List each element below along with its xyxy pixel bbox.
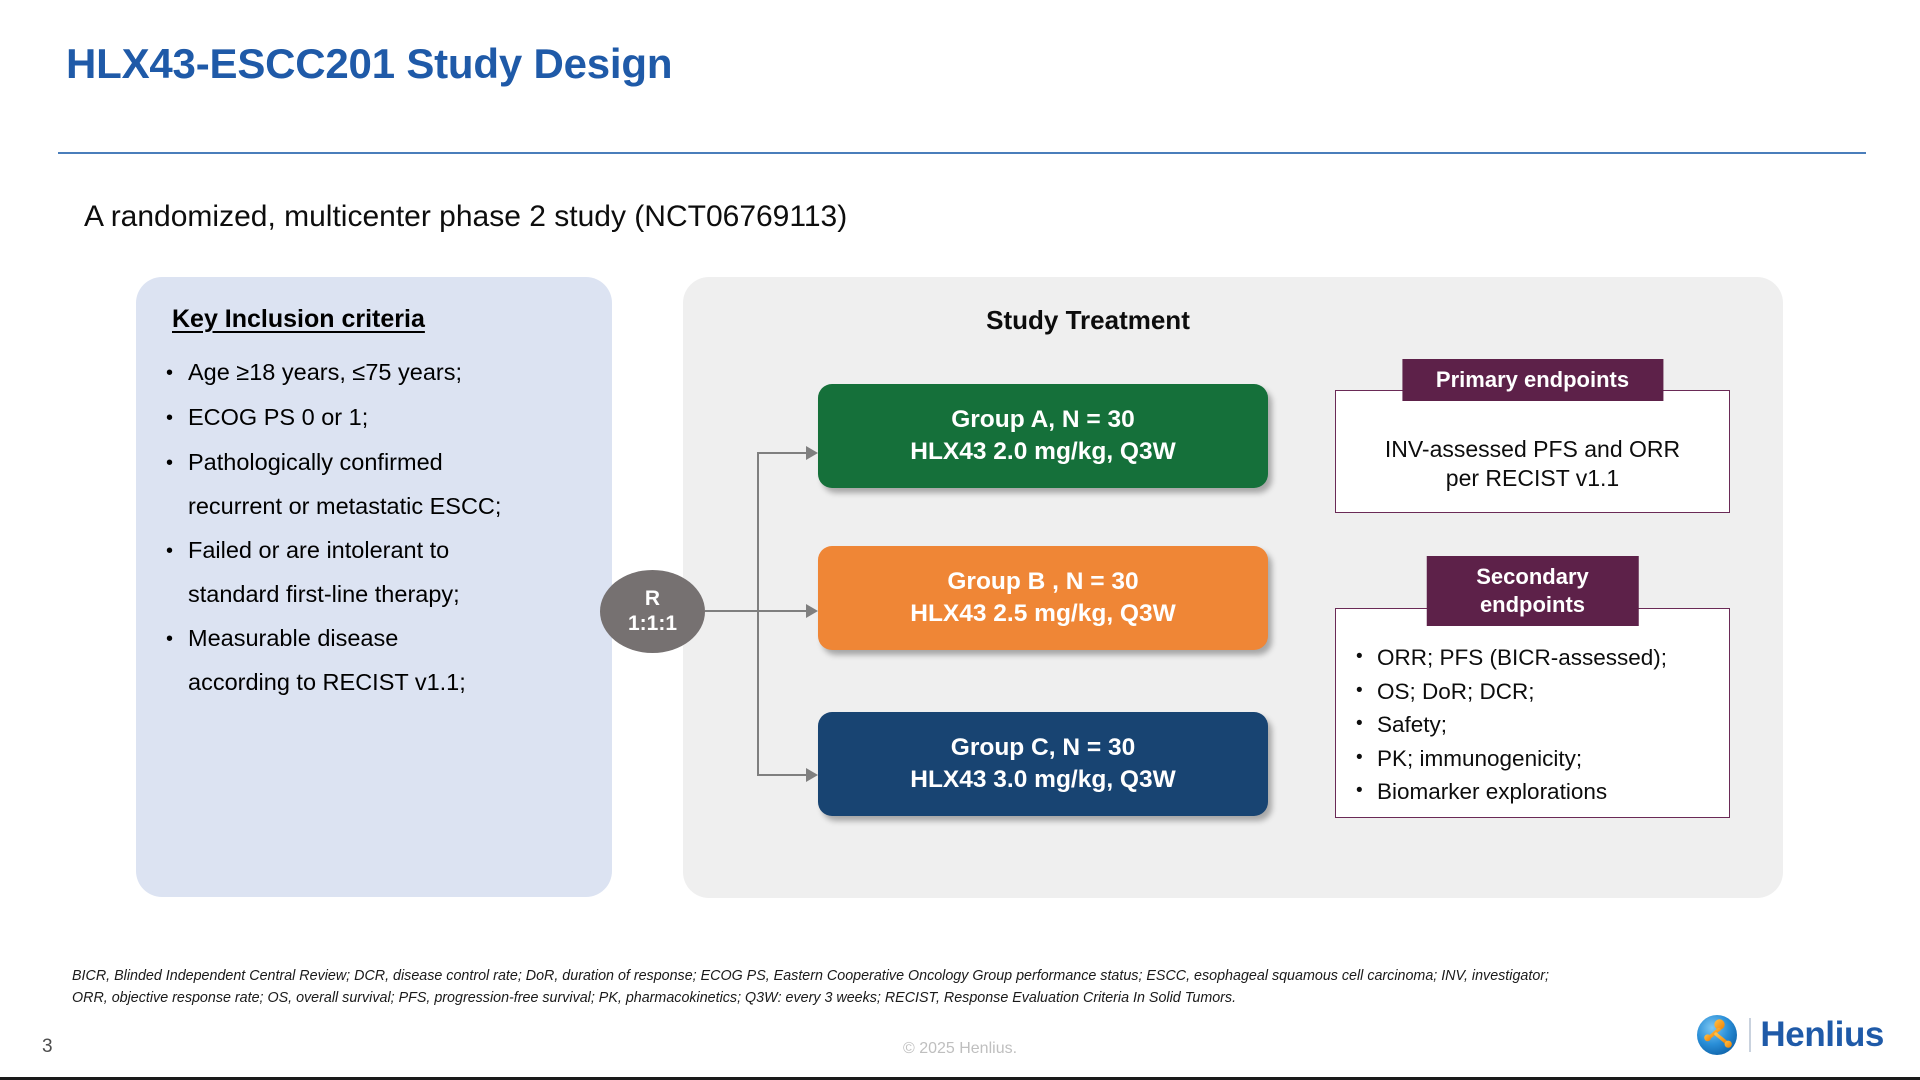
inclusion-item-line1: Failed or are intolerant to: [188, 537, 449, 563]
primary-endpoints-line1: INV-assessed PFS and ORR: [1336, 435, 1729, 464]
list-item: • ECOG PS 0 or 1;: [166, 406, 590, 430]
randomization-ratio: 1:1:1: [628, 612, 677, 637]
study-treatment-heading: Study Treatment: [683, 305, 1783, 336]
henlius-logo-icon: [1694, 1012, 1740, 1058]
list-item: • Pathologically confirmed recurrent or …: [166, 451, 590, 518]
brand-wordmark: Henlius: [1760, 1015, 1884, 1055]
treatment-arm-group-a: Group A, N = 30 HLX43 2.0 mg/kg, Q3W: [818, 384, 1268, 488]
group-a-regimen: HLX43 2.0 mg/kg, Q3W: [910, 436, 1176, 468]
secondary-endpoints-title-line2: endpoints: [1476, 591, 1589, 619]
randomization-node: R 1:1:1: [600, 570, 705, 653]
bullet-icon: •: [166, 451, 188, 475]
randomization-label: R: [645, 587, 660, 612]
study-treatment-heading-text: Study Treatment: [986, 305, 1190, 336]
secondary-endpoints-banner: Secondary endpoints: [1426, 556, 1639, 626]
group-c-name: Group C, N = 30: [951, 732, 1135, 764]
logo-divider: [1749, 1018, 1751, 1052]
inclusion-criteria-panel: Key Inclusion criteria • Age ≥18 years, …: [136, 277, 612, 897]
connector-to-group-b: [757, 610, 812, 612]
group-a-name: Group A, N = 30: [951, 404, 1135, 436]
inclusion-item-text: Failed or are intolerant to standard fir…: [188, 539, 590, 606]
list-item: • Biomarker explorations: [1356, 781, 1721, 804]
inclusion-item-line2: according to RECIST v1.1;: [188, 671, 590, 695]
primary-endpoints-card: Primary endpoints INV-assessed PFS and O…: [1335, 390, 1730, 513]
footnote-line-1: BICR, Blinded Independent Central Review…: [72, 966, 1862, 988]
primary-endpoints-line2: per RECIST v1.1: [1336, 464, 1729, 493]
footnote-line-2: ORR, objective response rate; OS, overal…: [72, 988, 1862, 1010]
page-title: HLX43-ESCC201 Study Design: [66, 40, 672, 88]
inclusion-item-text: Measurable disease according to RECIST v…: [188, 627, 590, 694]
inclusion-item-text: ECOG PS 0 or 1;: [188, 406, 590, 430]
inclusion-criteria-list: • Age ≥18 years, ≤75 years; • ECOG PS 0 …: [166, 361, 590, 715]
list-item: • ORR; PFS (BICR-assessed);: [1356, 647, 1721, 670]
primary-endpoints-body: INV-assessed PFS and ORR per RECIST v1.1: [1336, 435, 1729, 493]
abbreviations-footnote: BICR, Blinded Independent Central Review…: [72, 966, 1862, 1009]
secondary-endpoints-card: Secondary endpoints • ORR; PFS (BICR-ass…: [1335, 608, 1730, 818]
secondary-endpoint-text: ORR; PFS (BICR-assessed);: [1377, 647, 1667, 670]
group-c-regimen: HLX43 3.0 mg/kg, Q3W: [910, 764, 1176, 796]
list-item: • OS; DoR; DCR;: [1356, 681, 1721, 704]
primary-endpoints-banner: Primary endpoints: [1402, 359, 1663, 401]
inclusion-criteria-heading: Key Inclusion criteria: [172, 305, 425, 334]
inclusion-item-text: Age ≥18 years, ≤75 years;: [188, 361, 590, 385]
treatment-arm-group-b: Group B , N = 30 HLX43 2.5 mg/kg, Q3W: [818, 546, 1268, 650]
secondary-endpoint-text: Safety;: [1377, 714, 1447, 737]
bullet-icon: •: [166, 539, 188, 563]
inclusion-item-line1: Measurable disease: [188, 625, 398, 651]
brand-logo: Henlius: [1694, 1012, 1884, 1058]
inclusion-item-text: Pathologically confirmed recurrent or me…: [188, 451, 590, 518]
group-b-regimen: HLX43 2.5 mg/kg, Q3W: [910, 598, 1176, 630]
arrowhead-icon: [806, 768, 818, 782]
list-item: • PK; immunogenicity;: [1356, 748, 1721, 771]
page-subtitle: A randomized, multicenter phase 2 study …: [84, 200, 847, 234]
inclusion-item-line2: recurrent or metastatic ESCC;: [188, 495, 590, 519]
connector-to-group-a: [757, 452, 812, 454]
title-divider: [58, 152, 1866, 154]
bullet-icon: •: [1356, 781, 1377, 800]
connector-spine: [757, 453, 759, 775]
list-item: • Safety;: [1356, 714, 1721, 737]
connector-stem: [705, 610, 759, 612]
bullet-icon: •: [1356, 714, 1377, 733]
bullet-icon: •: [1356, 681, 1377, 700]
treatment-arm-group-c: Group C, N = 30 HLX43 3.0 mg/kg, Q3W: [818, 712, 1268, 816]
bullet-icon: •: [166, 627, 188, 651]
inclusion-item-line1: Pathologically confirmed: [188, 449, 443, 475]
secondary-endpoint-text: Biomarker explorations: [1377, 781, 1607, 804]
arrowhead-icon: [806, 604, 818, 618]
secondary-endpoint-text: OS; DoR; DCR;: [1377, 681, 1535, 704]
copyright-notice: © 2025 Henlius.: [0, 1040, 1920, 1058]
bullet-icon: •: [1356, 748, 1377, 767]
arrowhead-icon: [806, 446, 818, 460]
bullet-icon: •: [166, 406, 188, 430]
secondary-endpoint-text: PK; immunogenicity;: [1377, 748, 1582, 771]
secondary-endpoints-title-line1: Secondary: [1476, 563, 1589, 591]
group-b-name: Group B , N = 30: [947, 566, 1138, 598]
list-item: • Measurable disease according to RECIST…: [166, 627, 590, 694]
connector-to-group-c: [757, 774, 812, 776]
list-item: • Age ≥18 years, ≤75 years;: [166, 361, 590, 385]
inclusion-item-line2: standard first-line therapy;: [188, 583, 590, 607]
secondary-endpoints-list: • ORR; PFS (BICR-assessed); • OS; DoR; D…: [1356, 647, 1721, 815]
list-item: • Failed or are intolerant to standard f…: [166, 539, 590, 606]
bullet-icon: •: [166, 361, 188, 385]
bullet-icon: •: [1356, 647, 1377, 666]
